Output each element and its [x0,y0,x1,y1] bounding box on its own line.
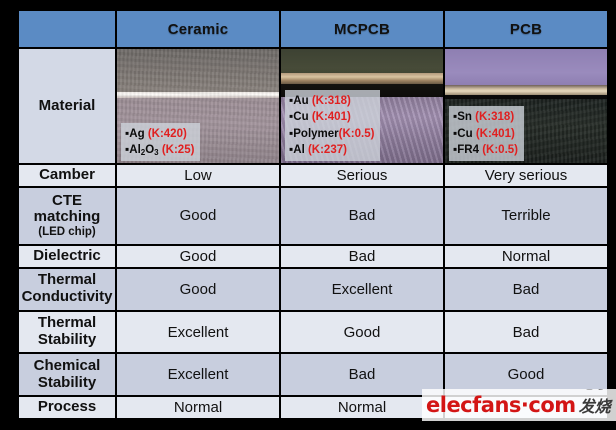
row-label-camber: Camber [19,165,115,186]
legend-item-fr4: ▪FR4 (K:0.5) [453,142,518,158]
mcpcb-layer-copper-line [281,73,443,84]
legend-material-name: Cu [293,111,308,123]
slide-root: Ceramic MCPCB PCB Material [0,0,616,430]
legend-k-value: (K:237) [308,144,347,156]
cell-dielectric-mcpcb: Bad [281,246,443,267]
legend-item-au: ▪Au (K:318) [289,93,374,109]
cell-cte-mcpcb: Bad [281,188,443,244]
legend-material-name: Cu [457,128,472,140]
cell-chemical-stability-mcpcb: Bad [281,354,443,395]
legend-k-value: (K:420) [148,128,187,140]
legend-material-name: Al [293,144,305,156]
legend-item-cu: ▪Cu (K:401) [289,109,374,125]
row-label-process: Process [19,397,115,418]
table-row-thermal-stability: Thermal Stability Excellent Good Bad [19,312,607,353]
legend-ceramic: ▪Ag (K:420) ▪Al2O3 (K:25) [121,123,200,161]
legend-k-value: (K:401) [476,128,515,140]
table-row-cte-matching: CTE matching (LED chip) Good Bad Terribl… [19,188,607,244]
legend-material-name: FR4 [457,144,479,156]
legend-item-al2o3: ▪Al2O3 (K:25) [125,142,194,158]
table-row-dielectric: Dielectric Good Bad Normal [19,246,607,267]
cell-chemical-stability-ceramic: Excellent [117,354,279,395]
row-label-thermal-stability: Thermal Stability [19,312,115,353]
watermark-chinese-text: 电子发烧友 [579,389,616,421]
watermark-site-name: elecfans·com [426,393,576,417]
legend-k-value: (K:0.5) [339,128,375,140]
cell-thermal-conductivity-mcpcb: Excellent [281,269,443,310]
legend-mcpcb: ▪Au (K:318) ▪Cu (K:401) ▪Polymer(K:0.5) … [285,90,380,161]
row-label-line2: Stability [38,374,96,391]
row-label-cte-matching: CTE matching (LED chip) [19,188,115,244]
cell-camber-mcpcb: Serious [281,165,443,186]
watermark: elecfans·com 电子发烧友 [422,389,616,421]
cell-process-mcpcb: Normal [281,397,443,418]
cell-cte-pcb: Terrible [445,188,607,244]
header-cell-ceramic: Ceramic [117,11,279,47]
cell-thermal-conductivity-ceramic: Good [117,269,279,310]
legend-sub-3: 3 [154,148,158,157]
legend-sub-2: 2 [141,148,145,157]
material-image-ceramic: ▪Ag (K:420) ▪Al2O3 (K:25) [117,49,279,163]
cell-camber-pcb: Very serious [445,165,607,186]
legend-item-sn: ▪Sn (K:318) [453,109,518,125]
legend-k-value: (K:318) [475,111,514,123]
table-row-camber: Camber Low Serious Very serious [19,165,607,186]
cell-process-ceramic: Normal [117,397,279,418]
material-image-mcpcb: ▪Au (K:318) ▪Cu (K:401) ▪Polymer(K:0.5) … [281,49,443,163]
row-label-material: Material [19,49,115,163]
legend-material-name-pre: Al [129,144,141,156]
comparison-table-wrapper: Ceramic MCPCB PCB Material [17,9,603,420]
cell-camber-ceramic: Low [117,165,279,186]
cell-thermal-conductivity-pcb: Bad [445,269,607,310]
row-label-line2: Conductivity [22,288,113,305]
legend-k-value: (K:401) [312,111,351,123]
row-label-sub: (LED chip) [19,226,115,239]
row-label-chemical-stability: Chemical Stability [19,354,115,395]
row-label-line1: Chemical [34,357,101,374]
row-label-line2: Stability [38,331,96,348]
row-label-thermal-conductivity: Thermal Conductivity [19,269,115,310]
legend-material-name-mid: O [145,144,154,156]
header-cell-pcb: PCB [445,11,607,47]
legend-item-cu: ▪Cu (K:401) [453,126,518,142]
legend-material-name: Ag [129,128,144,140]
legend-item-al: ▪Al (K:237) [289,142,374,158]
row-label-line1: Thermal [38,314,96,331]
material-image-pcb: ▪Sn (K:318) ▪Cu (K:401) ▪FR4 (K:0.5) [445,49,607,163]
cell-thermal-stability-pcb: Bad [445,312,607,353]
cell-dielectric-pcb: Normal [445,246,607,267]
legend-item-ag: ▪Ag (K:420) [125,126,194,142]
legend-k-value: (K:318) [312,95,351,107]
row-label-main: CTE matching [34,192,101,226]
header-cell-blank [19,11,115,47]
legend-k-value: (K:0.5) [482,144,518,156]
cell-thermal-stability-mcpcb: Good [281,312,443,353]
table-row-material: Material ▪Ag (K:420) ▪Al2O3 (K:25) [19,49,607,163]
row-label-dielectric: Dielectric [19,246,115,267]
cell-thermal-stability-ceramic: Excellent [117,312,279,353]
table-header-row: Ceramic MCPCB PCB [19,11,607,47]
header-cell-mcpcb: MCPCB [281,11,443,47]
legend-material-name: Polymer [293,128,338,140]
cell-cte-ceramic: Good [117,188,279,244]
legend-pcb: ▪Sn (K:318) ▪Cu (K:401) ▪FR4 (K:0.5) [449,106,524,161]
cell-dielectric-ceramic: Good [117,246,279,267]
comparison-table: Ceramic MCPCB PCB Material [17,9,609,420]
legend-item-polymer: ▪Polymer(K:0.5) [289,126,374,142]
legend-material-name: Au [293,95,308,107]
row-label-line1: Thermal [38,271,96,288]
table-row-thermal-conductivity: Thermal Conductivity Good Excellent Bad [19,269,607,310]
legend-material-name: Sn [457,111,472,123]
legend-k-value: (K:25) [162,144,195,156]
